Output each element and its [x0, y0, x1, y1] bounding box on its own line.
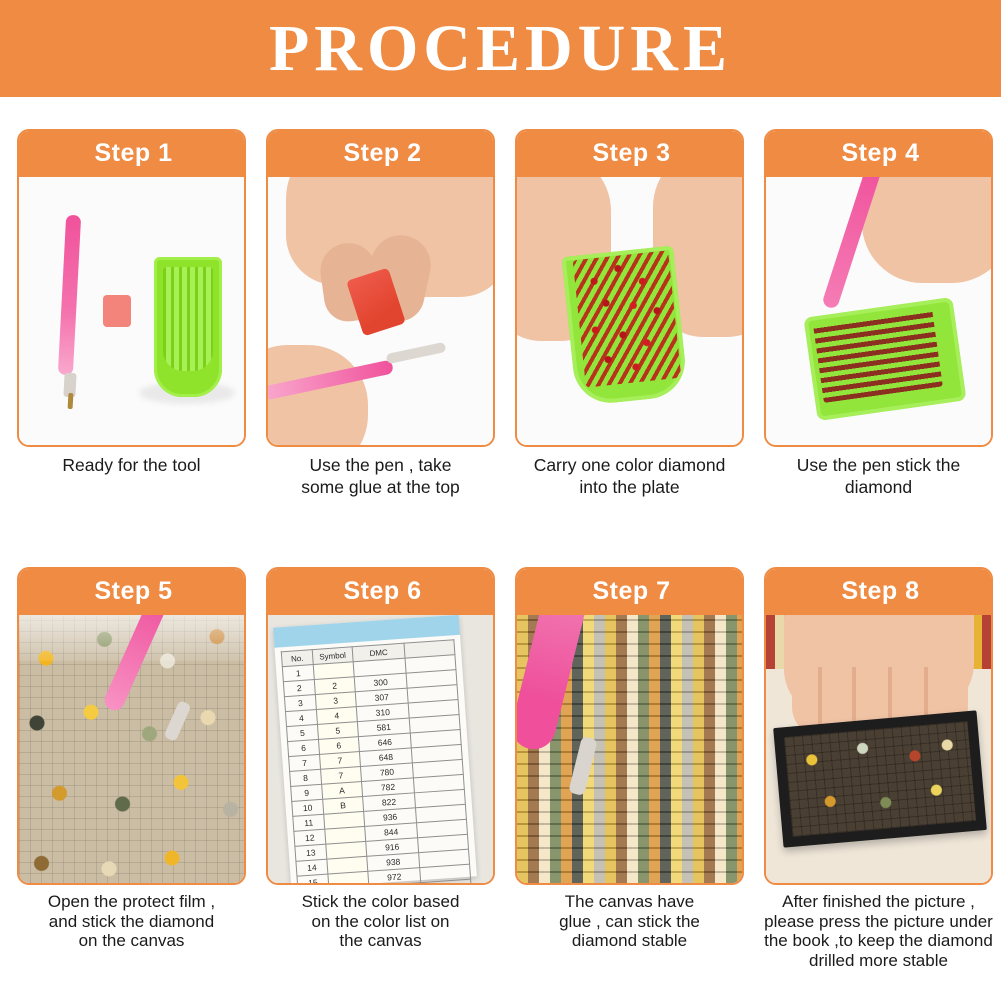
step-4-label: Step 4	[841, 139, 919, 168]
step-7-header: Step 7	[515, 567, 744, 615]
step-2-label: Step 2	[343, 139, 421, 168]
step-2-photo	[268, 177, 493, 447]
step-7-photo	[517, 615, 742, 885]
step-5-photo	[19, 615, 244, 885]
step-card-3: Step 3 Carry one color diamond into the …	[515, 129, 744, 569]
step-8-label: Step 8	[841, 577, 919, 606]
step-1-card-frame: Step 1	[17, 129, 246, 447]
step-2-caption: Use the pen , take some glue at the top	[266, 454, 495, 498]
procedure-infographic: PROCEDURE Step 1	[0, 0, 1001, 1001]
step-8-photo	[766, 615, 991, 885]
step-card-8: Step 8	[764, 567, 993, 1007]
step-7-caption: The canvas have glue , can stick the dia…	[515, 892, 744, 951]
step-2-illustration	[268, 177, 493, 447]
step-5-caption: Open the protect film , and stick the di…	[17, 892, 246, 951]
steps-row-2: Step 5 Open the protect film , and stick…	[0, 567, 1001, 1007]
step-3-caption: Carry one color diamond into the plate	[515, 454, 744, 498]
step-8-caption: After finished the picture , please pres…	[764, 892, 993, 971]
step-5-label: Step 5	[94, 577, 172, 606]
step-card-5: Step 5 Open the protect film , and stick…	[17, 567, 246, 1007]
steps-row-1: Step 1 Ready for the tool	[0, 129, 1001, 569]
step-6-card-frame: Step 6 No. Symbol	[266, 567, 495, 885]
step-3-illustration	[517, 177, 742, 447]
step-1-caption: Ready for the tool	[17, 454, 246, 476]
book-icon	[773, 710, 987, 847]
step-card-4: Step 4 Use the pen stick the diamond	[764, 129, 993, 569]
step-5-card-frame: Step 5	[17, 567, 246, 885]
step-6-illustration: No. Symbol DMC 1 22300	[268, 615, 493, 885]
finished-painting	[784, 721, 976, 837]
glue-square-icon	[103, 295, 131, 327]
step-5-header: Step 5	[17, 567, 246, 615]
step-3-photo	[517, 177, 742, 447]
step-card-2: Step 2	[266, 129, 495, 569]
step-card-7: Step 7 The canvas have glue , can stick …	[515, 567, 744, 1007]
step-6-photo: No. Symbol DMC 1 22300	[268, 615, 493, 885]
step-4-photo	[766, 177, 991, 447]
step-1-illustration	[19, 177, 244, 447]
step-7-illustration	[517, 615, 742, 885]
step-2-header: Step 2	[266, 129, 495, 177]
step-card-1: Step 1 Ready for the tool	[17, 129, 246, 569]
step-4-illustration	[766, 177, 991, 447]
step-3-card-frame: Step 3	[515, 129, 744, 447]
step-7-card-frame: Step 7	[515, 567, 744, 885]
step-6-header: Step 6	[266, 567, 495, 615]
step-1-photo	[19, 177, 244, 447]
step-card-6: Step 6 No. Symbol	[266, 567, 495, 1007]
step-8-header: Step 8	[764, 567, 993, 615]
green-tray-icon	[154, 257, 222, 397]
step-6-caption: Stick the color based on the color list …	[266, 892, 495, 951]
cell-symbol	[328, 871, 369, 885]
hand-icon	[862, 177, 991, 283]
aligned-diamond-rows	[813, 309, 943, 403]
diamond-pen-icon	[58, 215, 81, 376]
color-code-body: 1 22300 33307 44310 55581 66646 77648 87…	[282, 655, 471, 885]
step-1-header: Step 1	[17, 129, 246, 177]
color-list-sheet: No. Symbol DMC 1 22300	[273, 615, 477, 885]
page-title: PROCEDURE	[269, 16, 732, 82]
step-2-card-frame: Step 2	[266, 129, 495, 447]
pen-nib-icon	[68, 393, 74, 409]
step-1-label: Step 1	[94, 139, 172, 168]
step-5-illustration	[19, 615, 244, 885]
step-4-card-frame: Step 4	[764, 129, 993, 447]
pen-tip-icon	[386, 342, 447, 364]
steps-grid: Step 1 Ready for the tool	[0, 97, 1001, 1001]
header-banner: PROCEDURE	[0, 0, 1001, 97]
step-4-header: Step 4	[764, 129, 993, 177]
step-6-label: Step 6	[343, 577, 421, 606]
step-7-label: Step 7	[592, 577, 670, 606]
step-8-illustration	[766, 615, 991, 885]
step-3-header: Step 3	[515, 129, 744, 177]
cell-no: 15	[297, 874, 329, 885]
step-8-card-frame: Step 8	[764, 567, 993, 885]
color-code-table: No. Symbol DMC 1 22300	[281, 639, 472, 885]
step-4-caption: Use the pen stick the diamond	[764, 454, 993, 498]
red-diamond-beads	[573, 250, 682, 387]
step-3-label: Step 3	[592, 139, 670, 168]
